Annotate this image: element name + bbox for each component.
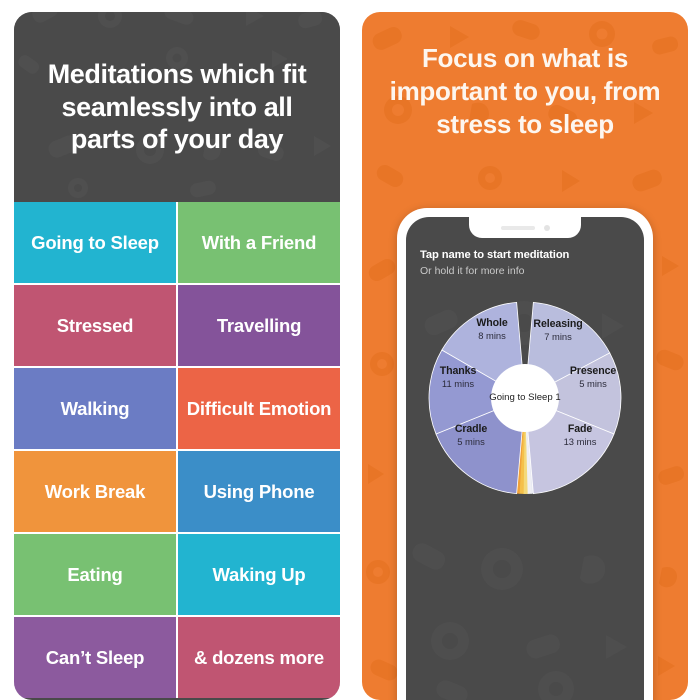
tile-cant-sleep[interactable]: Can’t Sleep: [14, 617, 176, 698]
tile-stressed[interactable]: Stressed: [14, 285, 176, 366]
app-instruction-title: Tap name to start meditation: [420, 248, 630, 263]
tile-with-a-friend[interactable]: With a Friend: [178, 202, 340, 283]
front-camera-icon: [544, 225, 550, 231]
meditation-wheel[interactable]: Going to Sleep 1 Whole 8 mins Releasing …: [428, 301, 622, 495]
category-tile-grid: Going to Sleep With a Friend Stressed Tr…: [14, 202, 340, 698]
tile-using-phone[interactable]: Using Phone: [178, 451, 340, 532]
app-instruction-subtitle: Or hold it for more info: [420, 264, 630, 278]
meditation-wheel-wrap: Going to Sleep 1 Whole 8 mins Releasing …: [406, 301, 644, 495]
meditation-wheel-svg[interactable]: [428, 301, 622, 495]
tile-walking[interactable]: Walking: [14, 368, 176, 449]
left-headline: Meditations which fit seamlessly into al…: [14, 58, 340, 155]
tile-difficult-emotion[interactable]: Difficult Emotion: [178, 368, 340, 449]
tile-going-to-sleep[interactable]: Going to Sleep: [14, 202, 176, 283]
phone-screen: Tap name to start meditation Or hold it …: [406, 217, 644, 700]
left-marketing-panel: Meditations which fit seamlessly into al…: [14, 12, 340, 700]
wheel-hub[interactable]: [491, 364, 559, 432]
speaker-grille-icon: [501, 226, 535, 230]
phone-mockup: Tap name to start meditation Or hold it …: [397, 208, 653, 700]
store-screenshot-pair: Meditations which fit seamlessly into al…: [0, 0, 700, 700]
tile-work-break[interactable]: Work Break: [14, 451, 176, 532]
tile-eating[interactable]: Eating: [14, 534, 176, 615]
tile-waking-up[interactable]: Waking Up: [178, 534, 340, 615]
right-marketing-panel: Focus on what is important to you, from …: [362, 12, 688, 700]
right-headline: Focus on what is important to you, from …: [362, 12, 688, 141]
phone-notch: [469, 217, 581, 238]
left-hero: Meditations which fit seamlessly into al…: [14, 12, 340, 202]
tile-travelling[interactable]: Travelling: [178, 285, 340, 366]
tile-dozens-more[interactable]: & dozens more: [178, 617, 340, 698]
